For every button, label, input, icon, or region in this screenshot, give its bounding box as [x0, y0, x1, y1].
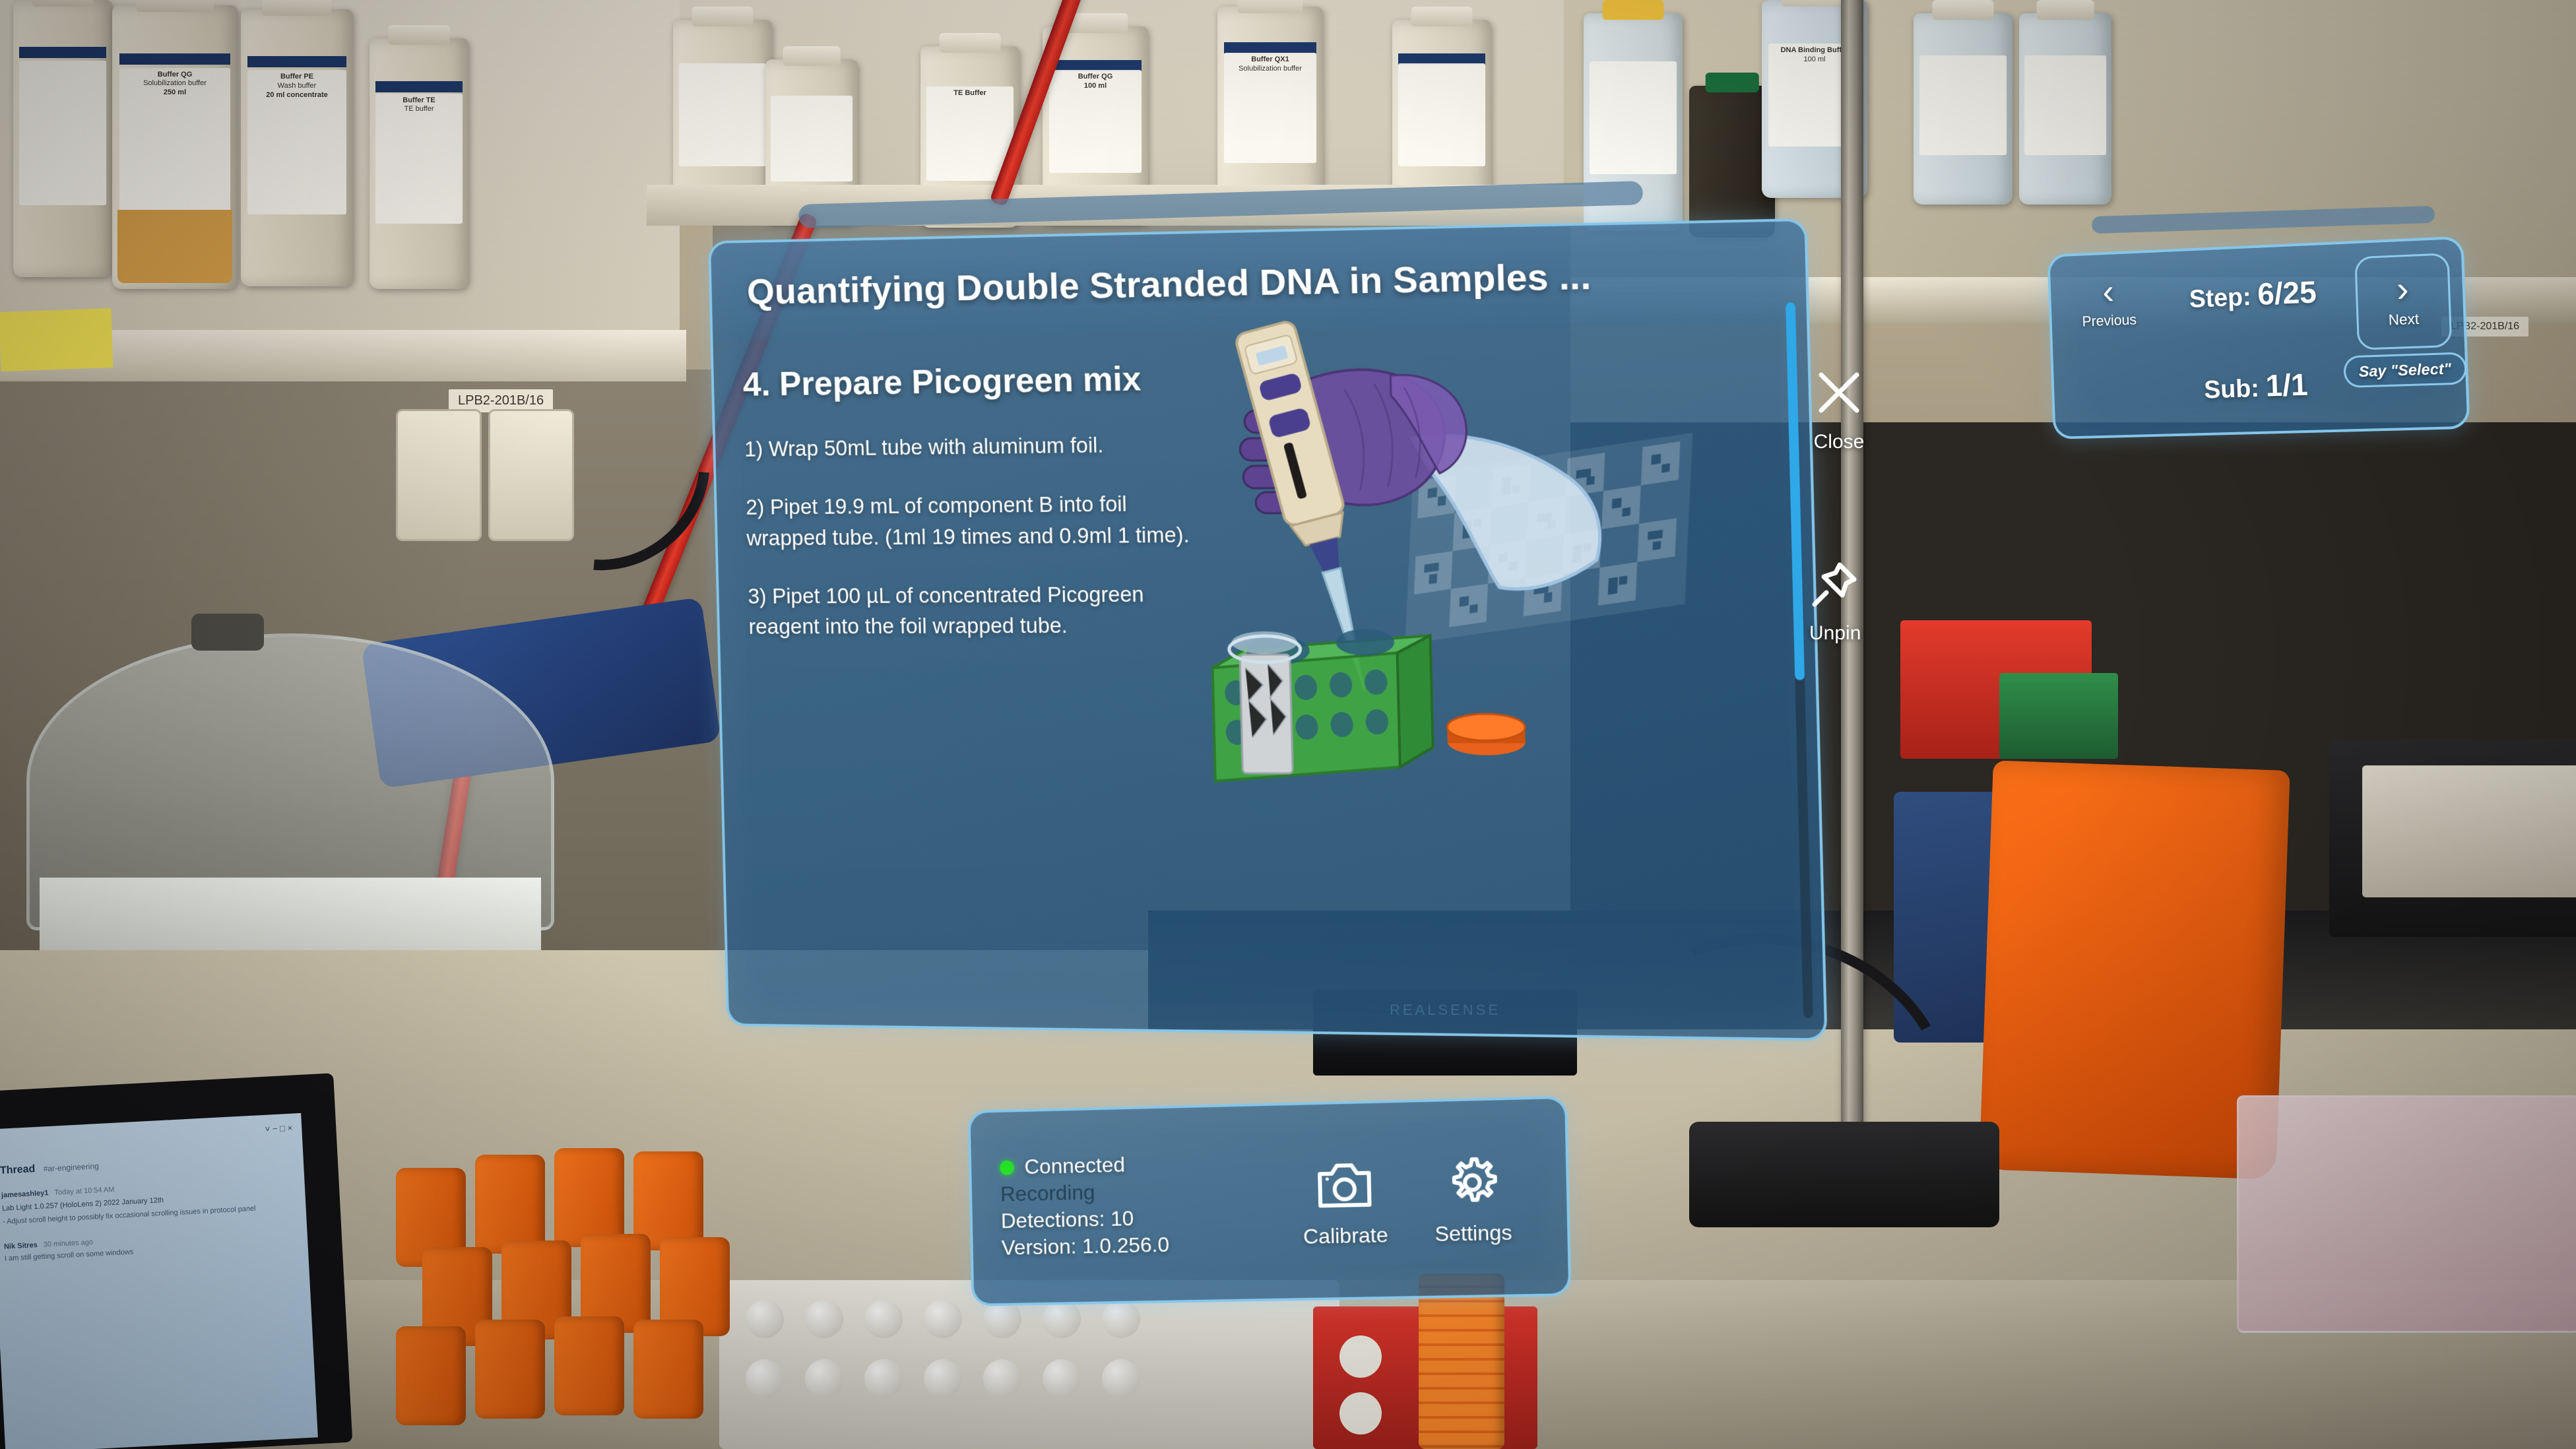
- bottle-label-name: TE Buffer: [953, 89, 986, 97]
- rack-hole: [983, 1359, 1021, 1398]
- orange-sample-tube: [554, 1316, 624, 1415]
- orange-sample-tube: [554, 1148, 624, 1247]
- sub-counter: Sub:1/1: [2203, 366, 2308, 405]
- status-info-group: Connected Recording Detections: 10 Versi…: [1000, 1148, 1283, 1262]
- message-block: Nik Sitres 30 minutes ago I am still get…: [4, 1227, 299, 1262]
- bottle-cap: [783, 46, 841, 66]
- bottle-label: [1590, 61, 1677, 175]
- reagent-bottle: Buffer QG Solubilization buffer 250 ml: [112, 5, 238, 289]
- sub-value: 1/1: [2265, 367, 2309, 402]
- bottle-cap: [262, 0, 331, 16]
- orange-sample-tube: [633, 1320, 703, 1419]
- step-value: 6/25: [2257, 274, 2317, 311]
- orange-graduated-tube: [1419, 1273, 1504, 1449]
- orange-screw-cap: [1447, 714, 1526, 756]
- rack-hole: [1043, 1359, 1081, 1398]
- bench-instrument: [2362, 765, 2576, 897]
- bottle-band: [1224, 42, 1317, 53]
- close-label: Close: [1814, 431, 1865, 453]
- step-heading: 4. Prepare Picogreen mix: [742, 358, 1206, 404]
- bottle-band: [119, 53, 230, 65]
- desiccator-knob: [191, 614, 264, 651]
- bottle-cap: [389, 25, 450, 45]
- rack-hole: [746, 1300, 784, 1338]
- bottle-label-line2: Solubilization buffer: [143, 79, 207, 87]
- pink-storage-box: [2237, 1095, 2576, 1333]
- step-instruction: 2) Pipet 19.9 mL of component B into foi…: [746, 488, 1210, 554]
- bottle-label: Buffer TE TE buffer: [375, 94, 463, 224]
- settings-button[interactable]: Settings: [1407, 1149, 1538, 1246]
- page-title: Quantifying Double Stranded DNA in Sampl…: [746, 254, 1592, 312]
- connection-label: Connected: [1024, 1151, 1125, 1180]
- step-counter: Step:6/25: [2189, 274, 2317, 315]
- thread-title: Thread: [0, 1163, 36, 1176]
- calibrate-label: Calibrate: [1303, 1223, 1388, 1249]
- status-dot-icon: [1000, 1160, 1014, 1175]
- bottle-label-line3: 100 ml: [1084, 82, 1107, 90]
- reagent-bottle: Buffer TE TE buffer: [370, 38, 468, 289]
- bottle-cap: [136, 0, 214, 12]
- message-author: Nik Sitres: [4, 1241, 38, 1251]
- rack-hole: [864, 1300, 903, 1338]
- bottle-label: Buffer QG 100 ml: [1049, 70, 1142, 173]
- previous-step-button[interactable]: ‹ Previous: [2080, 277, 2137, 331]
- bottle-band: [19, 47, 106, 58]
- rack-hole: [805, 1300, 843, 1338]
- message-author: jamesashley1: [1, 1189, 49, 1200]
- reagent-bottle: [1914, 13, 2012, 205]
- next-step-button[interactable]: › Next: [2354, 253, 2452, 350]
- yellow-tape-label: [0, 308, 113, 371]
- bottle-cap: [32, 0, 94, 7]
- bottle-label: TE Buffer: [926, 86, 1014, 181]
- rack-hole: [1339, 1392, 1382, 1434]
- message-time: Today at 10:54 AM: [54, 1186, 115, 1197]
- bottle-liquid: [117, 210, 233, 284]
- laptop: ˅ − □ × Thread #ar-engineering jamesashl…: [0, 1073, 352, 1449]
- white-tube-rack: [719, 1280, 1339, 1449]
- bottle-label-line2: 100 ml: [1803, 55, 1825, 63]
- step-label: Step:: [2189, 283, 2251, 313]
- bottle-label: [1398, 63, 1485, 166]
- step-instruction: 1) Wrap 50mL tube with aluminum foil.: [744, 428, 1207, 465]
- bottle-cap: [940, 33, 1001, 53]
- bottle-band: [375, 81, 463, 92]
- status-bar-panel[interactable]: Connected Recording Detections: 10 Versi…: [968, 1096, 1572, 1306]
- bottle-label-line2: Wash buffer: [278, 82, 317, 90]
- bottle-label-name: Buffer QG: [1078, 73, 1113, 80]
- green-tube-rack: [1211, 629, 1434, 782]
- next-label: Next: [2388, 310, 2419, 329]
- close-button[interactable]: Close: [1813, 367, 1865, 453]
- bottle-band: [247, 56, 346, 67]
- thread-channel: #ar-engineering: [43, 1161, 99, 1173]
- orange-sample-tube: [396, 1326, 466, 1425]
- bottle-cap: [2037, 0, 2094, 20]
- bottle-label: [1919, 55, 2007, 155]
- bottle-label: Buffer PE Wash buffer 20 ml concentrate: [247, 70, 346, 214]
- reagent-bottle: Buffer PE Wash buffer 20 ml concentrate: [241, 9, 353, 286]
- message-time: 30 minutes ago: [43, 1239, 93, 1249]
- camera-icon: [1316, 1153, 1374, 1217]
- rack-hole: [924, 1300, 962, 1338]
- orange-sample-tube: [475, 1155, 545, 1254]
- message-block: jamesashley1 Today at 10:54 AM Lab Light…: [1, 1176, 297, 1225]
- settings-label: Settings: [1434, 1220, 1512, 1246]
- bottle-cap: [1411, 7, 1473, 26]
- chevron-left-icon: ‹: [2102, 278, 2115, 306]
- bottle-label: [679, 63, 766, 166]
- bottle-cap: [1237, 0, 1303, 13]
- protocol-panel[interactable]: Quantifying Double Stranded DNA in Sampl…: [708, 218, 1828, 1041]
- protocol-panel-body: 4. Prepare Picogreen mix 1) Wrap 50mL tu…: [713, 322, 1824, 1038]
- app-version: Version: 1.0.256.0: [1001, 1229, 1282, 1261]
- wall-outlet: [396, 409, 482, 541]
- hologram-illustration: [1211, 350, 1793, 1038]
- rack-hole: [1102, 1300, 1140, 1338]
- bottle-label-name: Buffer QX1: [1251, 55, 1289, 63]
- reagent-bottle: [13, 0, 112, 277]
- unpin-button[interactable]: Unpin: [1809, 558, 1861, 645]
- bottle-label-name: DNA Binding Buffer: [1781, 46, 1849, 54]
- calibrate-button[interactable]: Calibrate: [1280, 1152, 1409, 1249]
- step-instruction: 3) Pipet 100 µL of concentrated Picogree…: [748, 578, 1212, 643]
- bottle-label: [2024, 55, 2106, 155]
- bottle-label-name: Buffer TE: [402, 96, 435, 104]
- bottle-label: [771, 96, 852, 181]
- chevron-right-icon: ›: [2396, 275, 2409, 305]
- sub-label: Sub:: [2204, 374, 2260, 403]
- bottle-label-line3: 250 ml: [164, 88, 186, 96]
- thread-header: Thread #ar-engineering: [0, 1150, 294, 1177]
- orange-sample-tube: [475, 1320, 545, 1419]
- ar-screenshot-stage: Buffer QG Solubilization buffer 250 ml B…: [0, 0, 2576, 1449]
- bottle-label-name: Buffer QG: [158, 71, 193, 79]
- bottle-label-line3: 20 ml concentrate: [266, 91, 328, 99]
- voice-command-hint: Say "Select": [2343, 352, 2467, 388]
- bottle-cap: [692, 7, 754, 26]
- rack-hole: [1102, 1359, 1140, 1398]
- rack-hole: [864, 1359, 903, 1398]
- browser-window-controls: ˅ − □ ×: [0, 1123, 293, 1148]
- rack-hole: [1043, 1300, 1081, 1338]
- bottle-cap: [1933, 0, 1994, 20]
- bottle-label-name: Buffer PE: [280, 73, 313, 80]
- bottle-cap: [1706, 73, 1759, 92]
- rack-hole: [1339, 1336, 1382, 1378]
- gear-icon: [1443, 1149, 1502, 1215]
- protocol-text-column: 4. Prepare Picogreen mix 1) Wrap 50mL tu…: [742, 358, 1221, 1030]
- bottle-cap: [1603, 0, 1664, 20]
- step-navigator-panel[interactable]: Step:6/25 Sub:1/1 ‹ Previous › Next Say …: [2047, 236, 2470, 439]
- pushpin-icon: [1809, 558, 1861, 613]
- rack-hole: [746, 1359, 784, 1398]
- previous-label: Previous: [2082, 311, 2137, 331]
- bottle-cap: [1782, 0, 1847, 7]
- bottle-label-line2: TE buffer: [404, 105, 434, 113]
- hologram-svg: [1191, 304, 1725, 815]
- laptop-screen: ˅ − □ × Thread #ar-engineering jamesashl…: [0, 1113, 318, 1449]
- bottle-label: Buffer QX1 Solubilization buffer: [1224, 53, 1317, 162]
- rack-hole: [805, 1359, 843, 1398]
- close-x-icon: [1813, 367, 1865, 422]
- reagent-bottle: [2019, 13, 2111, 205]
- rack-hole: [924, 1359, 962, 1398]
- bottle-label: [19, 61, 106, 205]
- bottle-label-line2: Solubilization buffer: [1239, 65, 1302, 73]
- unpin-label: Unpin: [1809, 622, 1861, 645]
- green-tube-rack-bench: [1999, 673, 2118, 759]
- bottle-label: Buffer QG Solubilization buffer 250 ml: [119, 68, 230, 216]
